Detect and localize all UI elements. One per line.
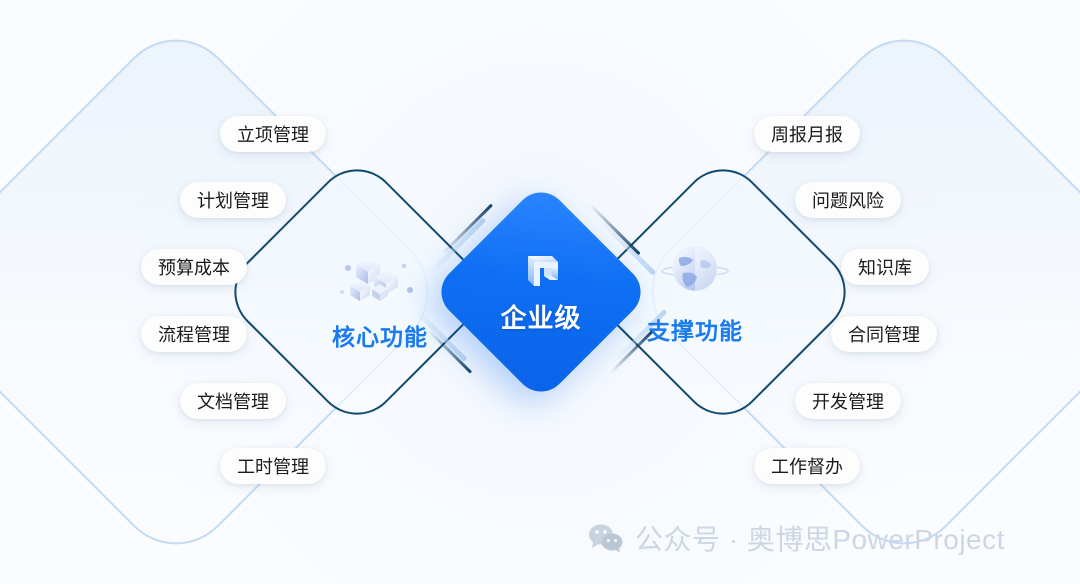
center-diamond-content: 企业级	[463, 214, 619, 370]
watermark-text: 公众号 · 奥博思PowerProject	[635, 518, 1005, 558]
pill-label: 立项管理	[237, 121, 309, 147]
center-diamond[interactable]: 企业级	[431, 182, 652, 403]
powerproject-logo-icon	[518, 250, 564, 292]
pill-label: 文档管理	[197, 388, 269, 414]
blue-globe-icon	[649, 240, 741, 304]
pill-core-3[interactable]: 流程管理	[141, 316, 247, 352]
pill-support-0[interactable]: 周报月报	[754, 116, 860, 152]
support-section: 支撑功能	[640, 240, 750, 346]
pill-core-5[interactable]: 工时管理	[220, 448, 326, 484]
core-section-label: 核心功能	[332, 318, 428, 352]
center-diamond-label: 企业级	[500, 298, 581, 335]
wechat-icon	[588, 523, 624, 553]
pill-support-4[interactable]: 开发管理	[795, 383, 901, 419]
pill-label: 工时管理	[237, 453, 309, 479]
support-section-label: 支撑功能	[647, 312, 743, 346]
infographic-canvas: 核心功能 支撑功能	[0, 0, 1080, 584]
core-section: 核心功能	[325, 246, 435, 352]
pill-core-2[interactable]: 预算成本	[141, 249, 247, 285]
pill-label: 周报月报	[771, 121, 843, 147]
pill-core-4[interactable]: 文档管理	[180, 383, 286, 419]
pill-label: 问题风险	[812, 187, 884, 213]
pill-label: 开发管理	[812, 388, 884, 414]
pill-label: 预算成本	[158, 254, 230, 280]
blue-cubes-icon	[334, 246, 426, 310]
watermark: 公众号 · 奥博思PowerProject	[588, 518, 1005, 558]
pill-core-0[interactable]: 立项管理	[220, 116, 326, 152]
pill-label: 工作督办	[771, 453, 843, 479]
pill-support-2[interactable]: 知识库	[841, 249, 929, 285]
pill-label: 知识库	[858, 254, 912, 280]
pill-support-5[interactable]: 工作督办	[754, 448, 860, 484]
pill-support-3[interactable]: 合同管理	[831, 316, 937, 352]
pill-label: 合同管理	[848, 321, 920, 347]
pill-core-1[interactable]: 计划管理	[180, 182, 286, 218]
pill-label: 流程管理	[158, 321, 230, 347]
pill-support-1[interactable]: 问题风险	[795, 182, 901, 218]
pill-label: 计划管理	[197, 187, 269, 213]
